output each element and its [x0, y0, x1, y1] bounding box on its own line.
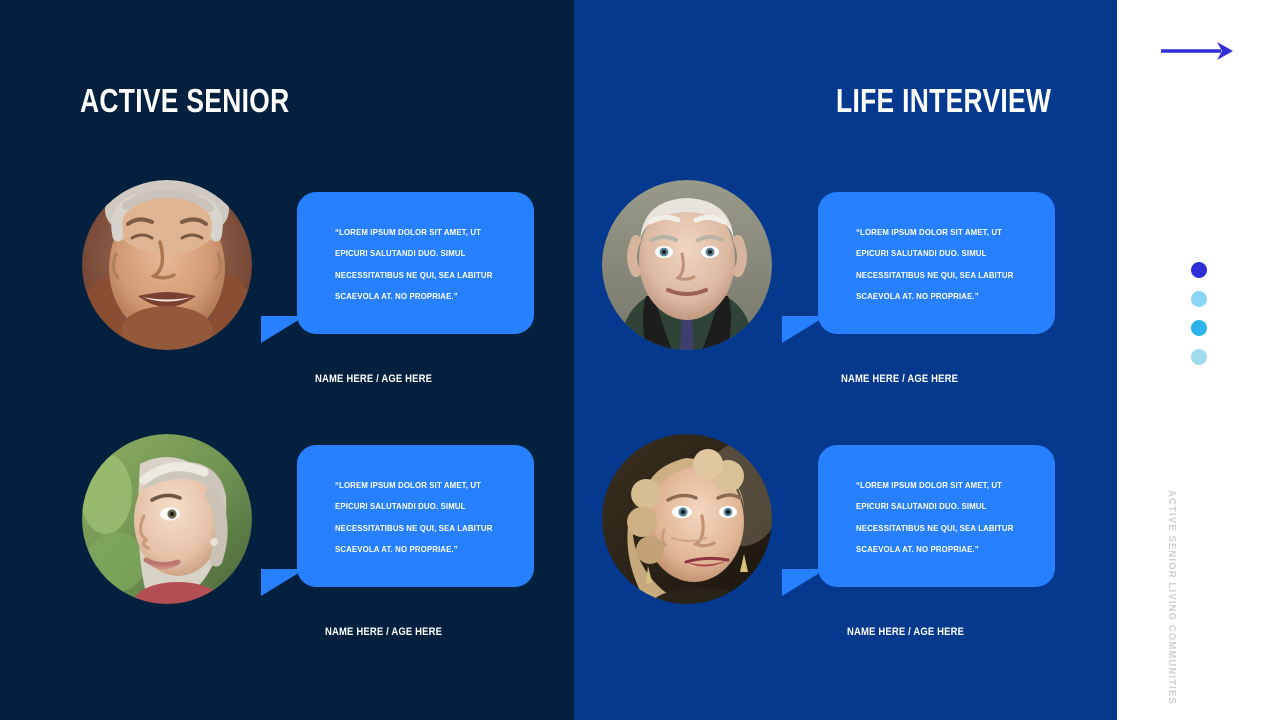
speech-bubble-2: “LOREM IPSUM DOLOR SIT AMET, UT EPICURI … [818, 192, 1055, 334]
speech-bubble-4: “LOREM IPSUM DOLOR SIT AMET, UT EPICURI … [818, 445, 1055, 587]
avatar-3 [82, 434, 252, 604]
dot-indicator-4[interactable] [1191, 349, 1207, 365]
slide-canvas: ACTIVE SENIOR LIFE INTERVIEW [0, 0, 1280, 720]
person-name-4: NAME HERE / AGE HERE [847, 626, 964, 638]
left-panel-title: ACTIVE SENIOR [80, 82, 290, 120]
person-name-2: NAME HERE / AGE HERE [841, 373, 958, 385]
quote-text-4: “LOREM IPSUM DOLOR SIT AMET, UT EPICURI … [856, 475, 1017, 561]
quote-text-1: “LOREM IPSUM DOLOR SIT AMET, UT EPICURI … [335, 222, 496, 308]
speech-bubble-tail-2 [782, 316, 826, 343]
avatar-4 [602, 434, 772, 604]
dot-indicator-group [1191, 262, 1207, 378]
dot-indicator-2[interactable] [1191, 291, 1207, 307]
arrow-right-icon[interactable] [1159, 38, 1237, 64]
speech-bubble-tail-1 [261, 316, 305, 343]
right-panel-title: LIFE INTERVIEW [836, 82, 1051, 120]
avatar-1 [82, 180, 252, 350]
right-rail: ACTIVE SENIOR LIVING COMMUNITIES [1117, 0, 1280, 720]
quote-text-3: “LOREM IPSUM DOLOR SIT AMET, UT EPICURI … [335, 475, 496, 561]
speech-bubble-tail-4 [782, 569, 826, 596]
person-name-1: NAME HERE / AGE HERE [315, 373, 432, 385]
dot-indicator-1[interactable] [1191, 262, 1207, 278]
speech-bubble-3: “LOREM IPSUM DOLOR SIT AMET, UT EPICURI … [297, 445, 534, 587]
speech-bubble-tail-3 [261, 569, 305, 596]
vertical-brand-label: ACTIVE SENIOR LIVING COMMUNITIES [1166, 490, 1177, 705]
quote-text-2: “LOREM IPSUM DOLOR SIT AMET, UT EPICURI … [856, 222, 1017, 308]
person-name-3: NAME HERE / AGE HERE [325, 626, 442, 638]
dot-indicator-3[interactable] [1191, 320, 1207, 336]
speech-bubble-1: “LOREM IPSUM DOLOR SIT AMET, UT EPICURI … [297, 192, 534, 334]
avatar-2 [602, 180, 772, 350]
